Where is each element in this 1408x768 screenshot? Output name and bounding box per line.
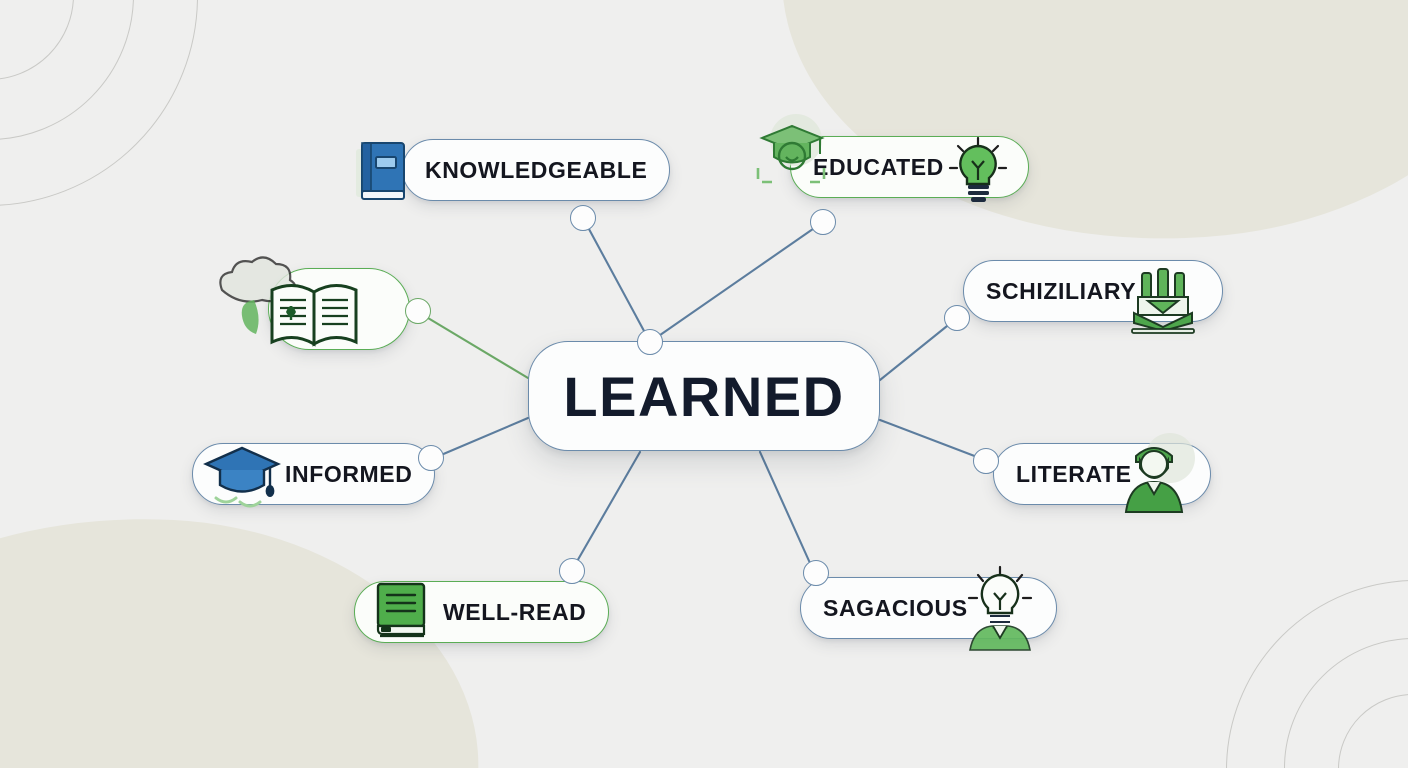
center-node[interactable]: LEARNED xyxy=(528,341,880,451)
branch-label-sagacious: SAGACIOUS xyxy=(823,595,968,622)
connector-dot-educated xyxy=(810,209,836,235)
branch-node-open-book[interactable] xyxy=(268,268,410,350)
mind-map-canvas: LEARNED KNOWLEDGEABLE EDUCATED xyxy=(0,0,1408,768)
connector-dot-well-read xyxy=(559,558,585,584)
branch-label-literate: LITERATE xyxy=(1016,461,1132,488)
branch-label-knowledgeable: KNOWLEDGEABLE xyxy=(425,157,647,184)
branch-node-scholarly[interactable]: SCHIZILIARY xyxy=(963,260,1223,322)
branch-node-sagacious[interactable]: SAGACIOUS xyxy=(800,577,1057,639)
branch-node-informed[interactable]: INFORMED xyxy=(192,443,435,505)
branch-label-informed: INFORMED xyxy=(285,461,412,488)
connector-dot-knowledgeable xyxy=(570,205,596,231)
connector-dot-informed xyxy=(418,445,444,471)
center-node-label: LEARNED xyxy=(563,364,844,429)
branch-label-well-read: WELL-READ xyxy=(443,599,586,626)
branch-node-knowledgeable[interactable]: KNOWLEDGEABLE xyxy=(402,139,670,201)
connector-dot-sagacious xyxy=(803,560,829,586)
branch-label-educated: EDUCATED xyxy=(813,154,944,181)
connector-dot-literate xyxy=(973,448,999,474)
branch-node-educated[interactable]: EDUCATED xyxy=(790,136,1029,198)
branch-label-scholarly: SCHIZILIARY xyxy=(986,278,1136,305)
branch-node-well-read[interactable]: WELL-READ xyxy=(354,581,609,643)
connector-dot-scholarly xyxy=(944,305,970,331)
branch-node-literate[interactable]: LITERATE xyxy=(993,443,1211,505)
hub-dot-top xyxy=(637,329,663,355)
connector-dot-open-book xyxy=(405,298,431,324)
